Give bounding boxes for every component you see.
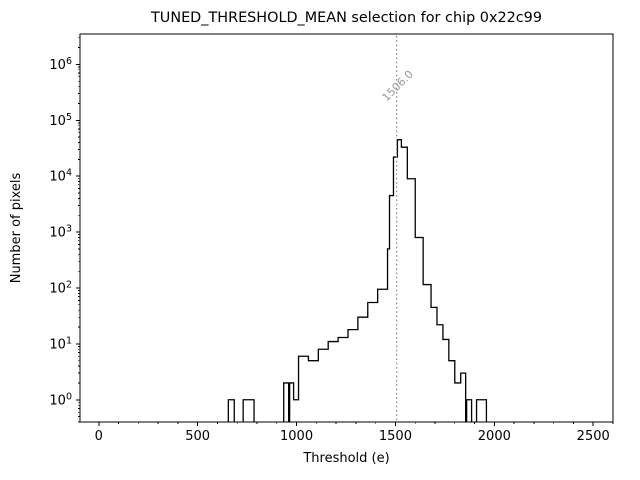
y-tick-label: 100 [49,391,72,408]
chart-title: TUNED_THRESHOLD_MEAN selection for chip … [150,10,542,26]
annotation-value-label: 1506.0 [380,68,416,104]
y-tick-label: 106 [49,56,72,73]
histogram-chart: TUNED_THRESHOLD_MEAN selection for chip … [0,0,640,480]
y-tick-label: 102 [49,279,72,296]
y-tick-label: 104 [49,168,72,185]
y-axis-label: Number of pixels [9,172,24,283]
figure-canvas: TUNED_THRESHOLD_MEAN selection for chip … [0,0,640,480]
x-tick-label: 500 [185,429,210,444]
y-tick-label: 103 [49,224,72,241]
x-tick-label: 1000 [280,429,313,444]
x-tick-label: 1500 [379,429,412,444]
y-tick-label: 101 [49,335,72,352]
x-tick-label: 2000 [478,429,511,444]
x-tick-label: 0 [95,429,103,444]
x-axis-label: Threshold (e) [302,451,389,466]
y-tick-label: 105 [49,112,72,129]
x-tick-label: 2500 [577,429,610,444]
histogram-outline [228,140,486,422]
plot-frame [80,34,613,422]
